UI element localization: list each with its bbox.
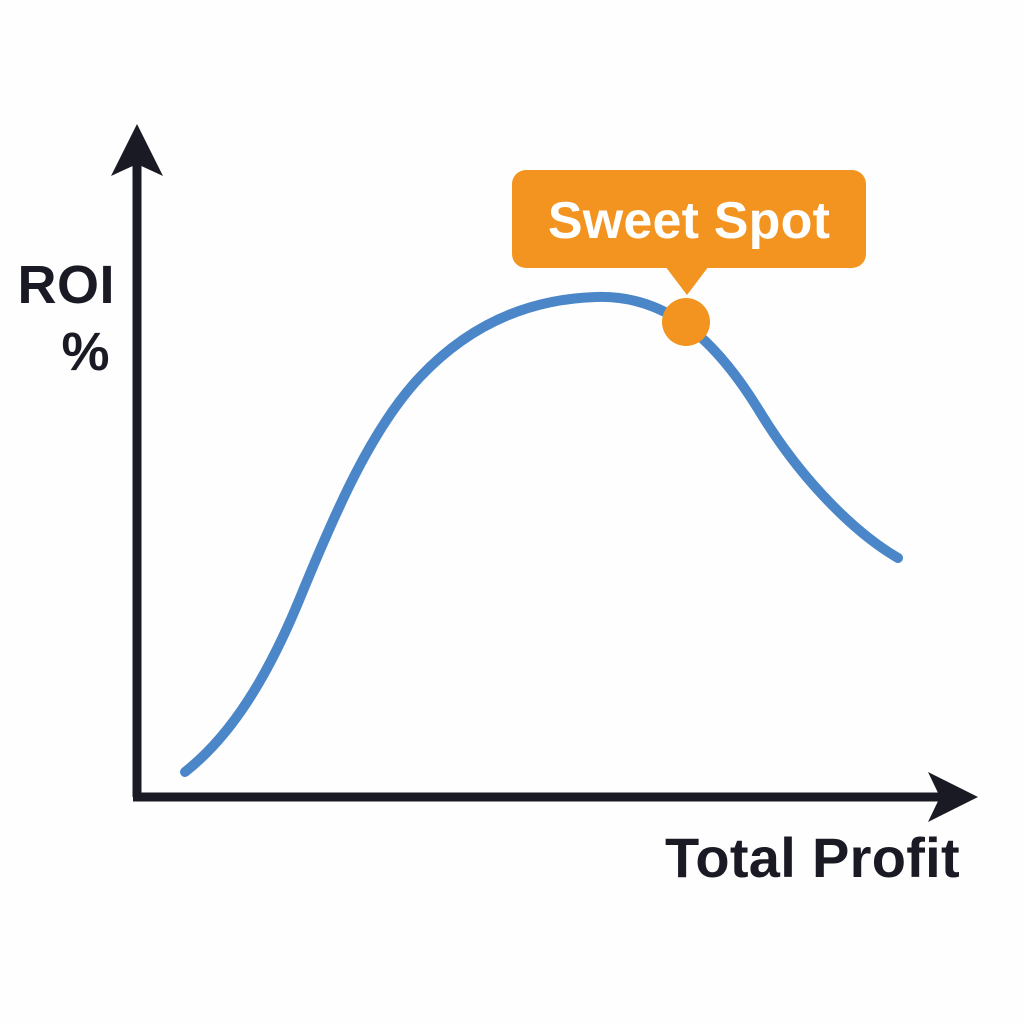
y-axis-label-line1: ROI	[17, 255, 115, 315]
chart-figure: Sweet Spot ROI % Total Profit	[0, 0, 1024, 1024]
x-axis-label: Total Profit	[665, 826, 960, 889]
y-axis-label: ROI %	[17, 255, 115, 382]
roi-sweet-spot-chart: Sweet Spot ROI % Total Profit	[0, 0, 1024, 1024]
y-axis-label-line2: %	[61, 322, 110, 382]
callout-label: Sweet Spot	[548, 192, 830, 250]
point-marker-icon[interactable]	[662, 298, 710, 346]
sweet-spot-callout[interactable]: Sweet Spot	[512, 170, 866, 295]
roi-curve	[185, 297, 898, 772]
roi-curve-group	[185, 297, 898, 772]
